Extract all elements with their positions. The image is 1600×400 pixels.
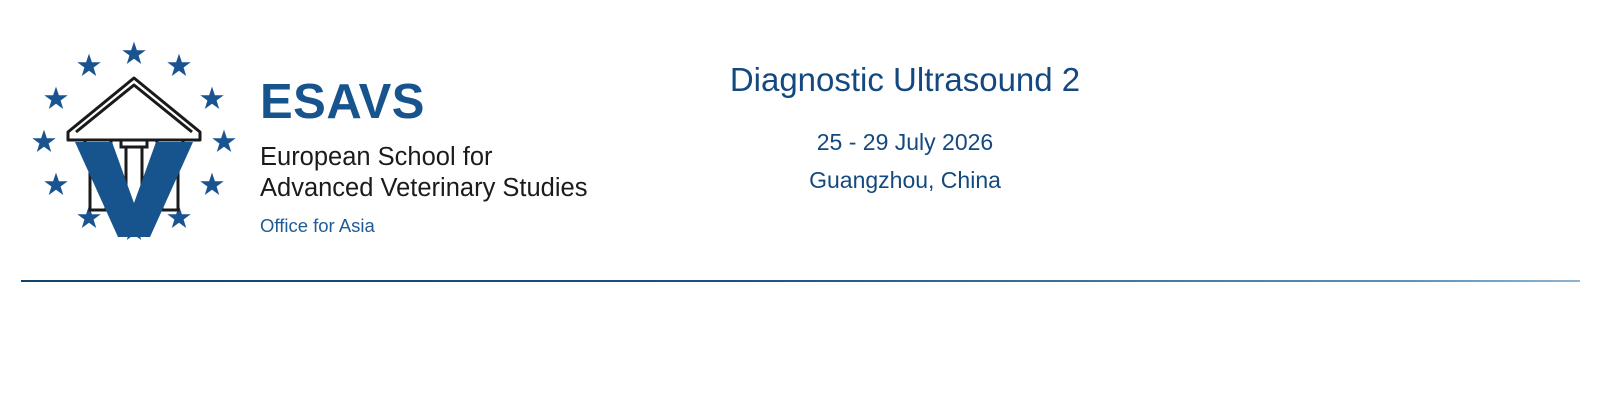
brand-tagline: European School for Advanced Veterinary … bbox=[260, 142, 587, 204]
brand-wordmark: ESAVS European School for Advanced Veter… bbox=[260, 32, 587, 236]
brand-acronym: ESAVS bbox=[260, 78, 587, 127]
brand-office-label: Office for Asia bbox=[260, 217, 587, 236]
course-info-block: Diagnostic Ultrasound 2 25 - 29 July 202… bbox=[660, 62, 1150, 199]
brand-tagline-line2: Advanced Veterinary Studies bbox=[260, 173, 587, 204]
course-title: Diagnostic Ultrasound 2 bbox=[660, 62, 1150, 98]
course-location: Guangzhou, China bbox=[660, 162, 1150, 199]
header-divider bbox=[21, 280, 1580, 282]
course-meta: 25 - 29 July 2026 Guangzhou, China bbox=[660, 124, 1150, 199]
course-header-page: ESAVS European School for Advanced Veter… bbox=[0, 0, 1600, 400]
temple-pediment-icon bbox=[68, 78, 200, 140]
brand-tagline-line1: European School for bbox=[260, 142, 587, 173]
course-dates: 25 - 29 July 2026 bbox=[660, 124, 1150, 161]
brand-lockup: ESAVS European School for Advanced Veter… bbox=[22, 32, 587, 248]
esavs-logo-icon bbox=[22, 32, 246, 248]
